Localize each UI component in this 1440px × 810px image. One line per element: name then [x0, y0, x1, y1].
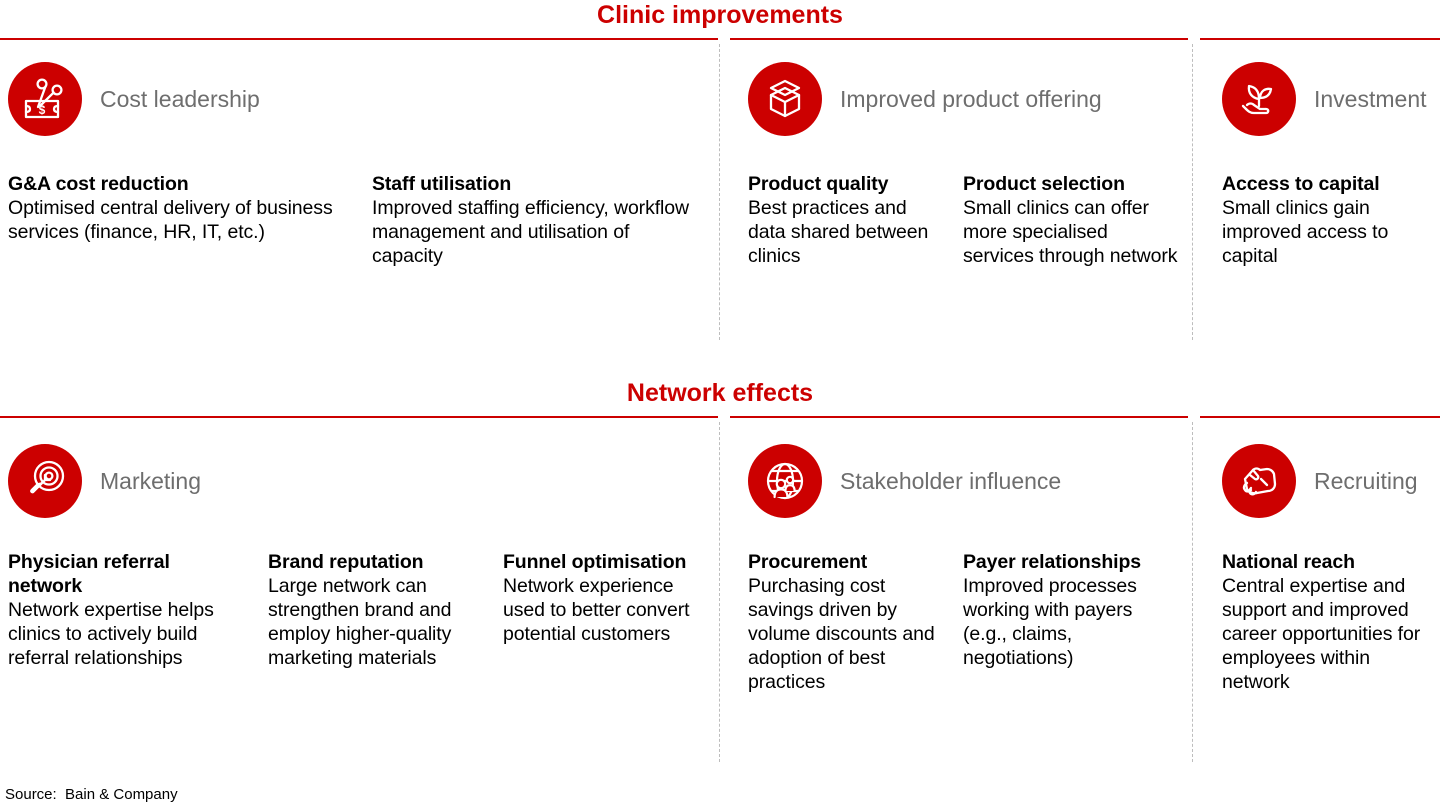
group-label-marketing: Marketing — [100, 468, 201, 495]
group-header-recruiting: Recruiting — [1222, 444, 1418, 518]
item-title: Staff utilisation — [372, 172, 702, 196]
item-body: Network expertise helps clinics to activ… — [8, 598, 248, 670]
item-staff-utilisation: Staff utilisation Improved staffing effi… — [372, 172, 702, 268]
item-brand-reputation: Brand reputation Large network can stren… — [268, 550, 473, 670]
item-body: Best practices and data shared between c… — [748, 196, 948, 268]
item-title: National reach — [1222, 550, 1438, 574]
infographic-slide: Clinic improvements $ Cost leadership G — [0, 0, 1440, 810]
item-body: Optimised central delivery of business s… — [8, 196, 348, 244]
item-title: Physician referral network — [8, 550, 248, 598]
group-header-stakeholder-influence: Stakeholder influence — [748, 444, 1061, 518]
item-body: Improved processes working with payers (… — [963, 574, 1178, 670]
item-access-to-capital: Access to capital Small clinics gain imp… — [1222, 172, 1434, 268]
item-title: Procurement — [748, 550, 953, 574]
scissors-cutting-money-icon: $ — [8, 62, 82, 136]
globe-with-people-icon — [748, 444, 822, 518]
handshake-icon — [1222, 444, 1296, 518]
item-body: Small clinics gain improved access to ca… — [1222, 196, 1434, 268]
group-label-investment: Investment — [1314, 86, 1427, 113]
group-header-cost-leadership: $ Cost leadership — [8, 62, 260, 136]
group-label-improved-product-offering: Improved product offering — [840, 86, 1102, 113]
group-header-investment: Investment — [1222, 62, 1427, 136]
item-product-quality: Product quality Best practices and data … — [748, 172, 948, 268]
item-body: Purchasing cost savings driven by volume… — [748, 574, 953, 694]
item-physician-referral-network: Physician referral network Network exper… — [8, 550, 248, 670]
source-note: Source: Bain & Company — [5, 786, 178, 803]
item-title: Product quality — [748, 172, 948, 196]
rule-segment-left — [0, 38, 718, 40]
group-header-improved-product-offering: Improved product offering — [748, 62, 1102, 136]
section-title-network-effects: Network effects — [0, 378, 1440, 408]
item-ga-cost-reduction: G&A cost reduction Optimised central del… — [8, 172, 348, 244]
item-payer-relationships: Payer relationships Improved processes w… — [963, 550, 1178, 670]
item-body: Network experience used to better conver… — [503, 574, 703, 646]
divider-bottom-1 — [719, 422, 720, 762]
item-title: Funnel optimisation — [503, 550, 703, 574]
rule-segment-middle — [730, 38, 1188, 40]
section-title-clinic-improvements: Clinic improvements — [0, 0, 1440, 30]
divider-top-1 — [719, 44, 720, 340]
item-product-selection: Product selection Small clinics can offe… — [963, 172, 1178, 268]
item-title: G&A cost reduction — [8, 172, 348, 196]
item-title: Product selection — [963, 172, 1178, 196]
section-rule-clinic-improvements — [0, 38, 1440, 41]
rule-segment-left — [0, 416, 718, 418]
rule-segment-right — [1200, 38, 1440, 40]
item-body: Central expertise and support and improv… — [1222, 574, 1438, 694]
open-box-icon — [748, 62, 822, 136]
item-national-reach: National reach Central expertise and sup… — [1222, 550, 1438, 694]
section-rule-network-effects — [0, 416, 1440, 419]
item-funnel-optimisation: Funnel optimisation Network experience u… — [503, 550, 703, 646]
group-label-cost-leadership: Cost leadership — [100, 86, 260, 113]
item-procurement: Procurement Purchasing cost savings driv… — [748, 550, 953, 694]
hand-holding-sprout-icon — [1222, 62, 1296, 136]
item-body: Small clinics can offer more specialised… — [963, 196, 1178, 268]
item-body: Improved staffing efficiency, workflow m… — [372, 196, 702, 268]
item-title: Brand reputation — [268, 550, 473, 574]
rule-segment-middle — [730, 416, 1188, 418]
divider-bottom-2 — [1192, 422, 1193, 762]
item-title: Payer relationships — [963, 550, 1178, 574]
rule-segment-right — [1200, 416, 1440, 418]
group-label-recruiting: Recruiting — [1314, 468, 1418, 495]
group-header-marketing: Marketing — [8, 444, 201, 518]
dart-on-target-icon — [8, 444, 82, 518]
item-body: Large network can strengthen brand and e… — [268, 574, 473, 670]
group-label-stakeholder-influence: Stakeholder influence — [840, 468, 1061, 495]
divider-top-2 — [1192, 44, 1193, 340]
item-title: Access to capital — [1222, 172, 1434, 196]
